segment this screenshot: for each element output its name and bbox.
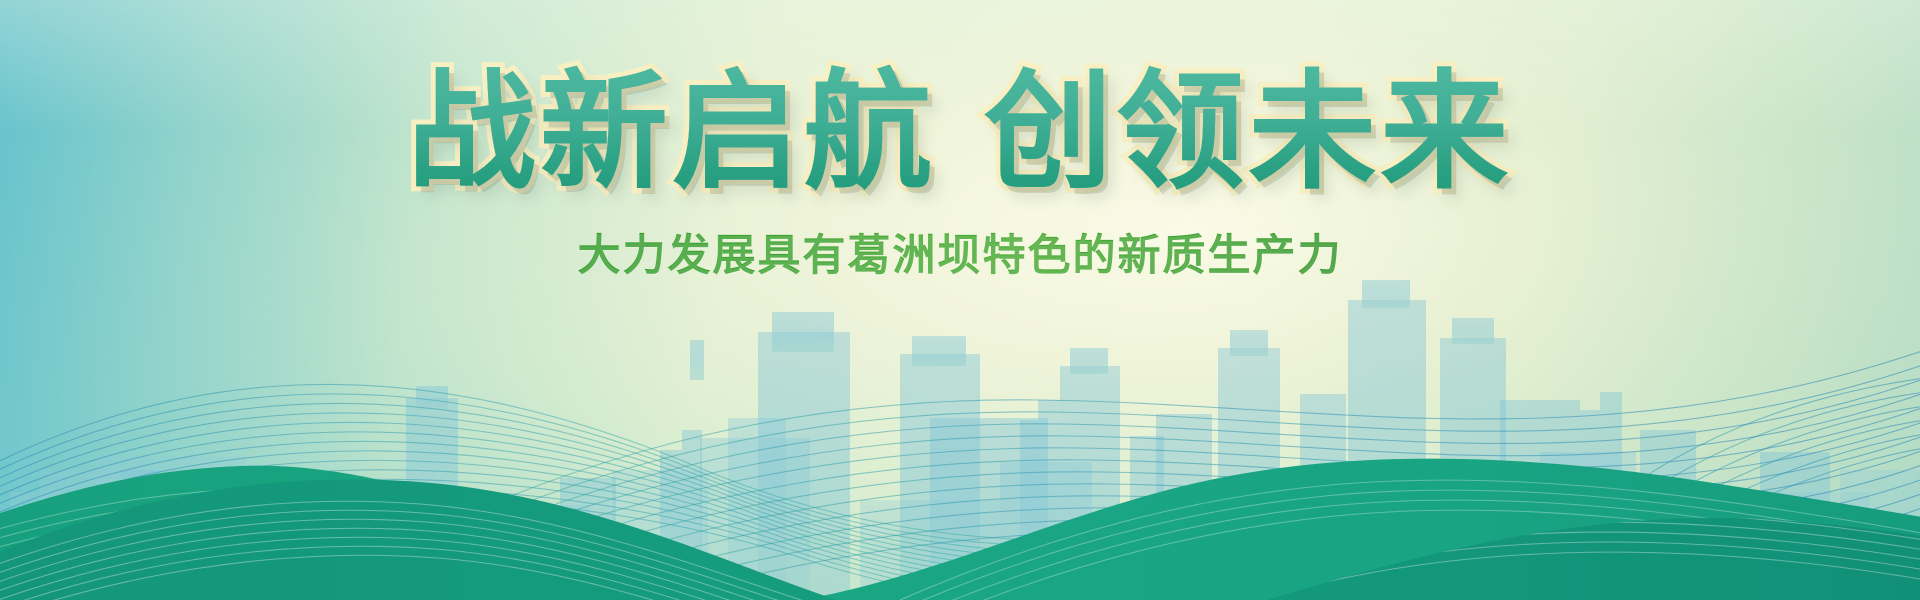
- banner-content: 战新启航 创领未来 战新启航 创领未来 大力发展具有葛洲坝特色的新质生产力: [0, 0, 1920, 600]
- main-title-outline: 战新启航 创领未来: [408, 66, 1513, 199]
- main-title-wrap: 战新启航 创领未来 战新启航 创领未来: [408, 66, 1513, 199]
- banner-subtitle: 大力发展具有葛洲坝特色的新质生产力: [578, 221, 1343, 283]
- banner-root: 战新启航 创领未来 战新启航 创领未来 大力发展具有葛洲坝特色的新质生产力: [0, 0, 1920, 600]
